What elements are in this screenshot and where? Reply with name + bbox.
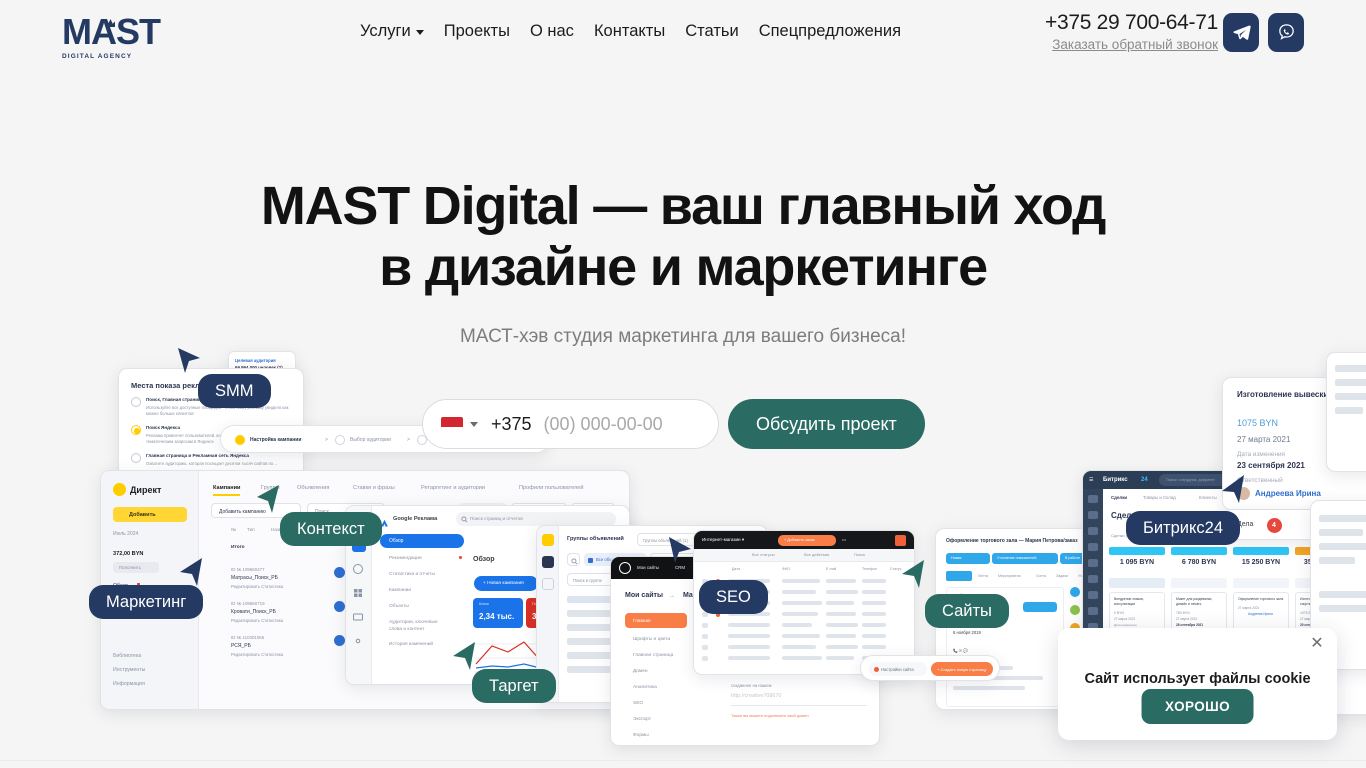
create-page-button[interactable]: + Создать новую страницу: [931, 662, 993, 676]
cursor-bitrix: [1218, 473, 1246, 505]
google-ads-brand: Google Реклама: [393, 516, 437, 522]
builder-nav-crm[interactable]: CRM: [675, 565, 685, 570]
deal-tab-obshee[interactable]: [946, 571, 972, 581]
telegram-icon: [1232, 23, 1251, 42]
add-deal-button[interactable]: [1171, 578, 1227, 588]
stage-sum: 15 250 BYN: [1233, 559, 1289, 566]
list-icon[interactable]: [542, 578, 554, 590]
cookie-message: Сайт использует файлы cookie: [1058, 671, 1337, 687]
site-settings-button[interactable]: Настройки сайта: [869, 662, 927, 676]
badge-kontekst[interactable]: Контекст: [280, 512, 382, 546]
builder-menu-export[interactable]: Экспорт: [633, 717, 651, 722]
cursor-target: [449, 640, 477, 672]
detail-changed: 23 сентября 2021: [1237, 461, 1305, 470]
nav-item-o-nas[interactable]: О нас: [530, 22, 574, 41]
chevron-down-icon[interactable]: [470, 422, 478, 427]
google-menu-statistika[interactable]: Статистика и отчеты: [389, 572, 435, 577]
deal-tab-lenta[interactable]: Лента: [978, 574, 988, 578]
direct-tab-obyavleniya[interactable]: Объявления: [297, 485, 329, 491]
deal-card[interactable]: Оформление торгового зала 27 марта 2021 …: [1233, 592, 1289, 632]
nav-item-stati[interactable]: Статьи: [685, 22, 738, 41]
cursor-seo: [667, 535, 693, 565]
badge-target[interactable]: Таргет: [472, 669, 556, 703]
radio-option-1[interactable]: [131, 397, 141, 407]
bitrix-brand: Битрикс: [1103, 477, 1128, 483]
google-new-campaign-button[interactable]: + Новая кампания: [474, 576, 538, 591]
direct-menu-instrumenty[interactable]: Инструменты: [113, 667, 145, 673]
search-icon[interactable]: [567, 553, 580, 566]
phone-input-group[interactable]: +375 (00) 000-00-00: [422, 399, 719, 449]
google-menu-obzor-active[interactable]: Обзор: [380, 534, 464, 548]
billing-icon[interactable]: [352, 610, 366, 624]
direct-tab-retargeting[interactable]: Ретаргетинг и аудитории: [421, 485, 485, 491]
create-deal-button[interactable]: [1023, 602, 1057, 612]
detail-responsible[interactable]: Андреева Ирина: [1255, 489, 1321, 498]
option-3-label: Главная страница и Рекламная сеть Яндекс…: [146, 453, 249, 458]
hero-title: MAST Digital — ваш главный ход в дизайне…: [0, 176, 1366, 298]
site-header: MAST DIGITAL AGENCY Услуги Проекты О нас…: [0, 0, 1366, 66]
option-3-desc: Охватите аудиторию, которая посещает дес…: [146, 461, 296, 466]
direct-total-row: Итого: [231, 545, 245, 550]
main-nav: Услуги Проекты О нас Контакты Статьи Спе…: [360, 22, 901, 41]
chevron-down-icon: [416, 30, 424, 35]
col-num: №: [231, 527, 236, 532]
crm-add-button[interactable]: + Добавить заказ: [778, 535, 836, 546]
callback-link[interactable]: Заказать обратный звонок: [1052, 37, 1218, 52]
yandex-logo-icon: [113, 483, 126, 496]
by-flag-icon: [441, 417, 463, 432]
stage-sum: 1 095 BYN: [1109, 559, 1165, 566]
badge-seo[interactable]: SEO: [699, 580, 768, 614]
add-deal-button[interactable]: [1233, 578, 1289, 588]
nav-item-kontakty[interactable]: Контакты: [594, 22, 665, 41]
google-menu-obekty[interactable]: Объекты: [389, 604, 409, 609]
google-menu-istoriya[interactable]: История изменений: [389, 642, 433, 647]
col-type: Тип: [247, 527, 255, 532]
stage-header: [1109, 547, 1165, 555]
header-contacts: +375 29 700-64-71 Заказать обратный звон…: [1045, 11, 1218, 54]
tools-icon[interactable]: [352, 586, 366, 600]
direct-menu-informaciya[interactable]: Информация: [113, 681, 145, 687]
cursor-smm: [176, 346, 202, 376]
logo[interactable]: MAST DIGITAL AGENCY: [62, 14, 182, 60]
admin-icon[interactable]: [352, 634, 366, 648]
hero-title-line-1: MAST Digital — ваш главный ход: [0, 176, 1366, 237]
direct-tab-profili[interactable]: Профили пользователей: [519, 485, 584, 491]
step-2: Выбор аудитории: [350, 437, 391, 443]
audience-label: Целевая аудитория: [235, 358, 276, 363]
phone-number[interactable]: +375 29 700-64-71: [1045, 11, 1218, 35]
google-menu-kampanii[interactable]: Кампании: [389, 588, 411, 593]
badge-smm[interactable]: SMM: [198, 374, 271, 408]
direct-menu-biblioteka[interactable]: Библиотека: [113, 653, 141, 659]
direct-add-button[interactable]: Добавить: [113, 507, 187, 522]
google-ads-search[interactable]: Поиск страниц и отчетов: [456, 512, 616, 526]
crm-deal-title: Оформление торгового зала — Мария Петров…: [946, 538, 1078, 544]
viber-button[interactable]: [1268, 13, 1304, 52]
bitrix-brand-num: 24: [1141, 477, 1148, 483]
stage-sum: 6 780 BYN: [1171, 559, 1227, 566]
direct-topup-button[interactable]: Пополнить: [113, 562, 159, 573]
direct-brand: Директ: [130, 485, 161, 495]
detail-changed-label: Дата изменения: [1237, 451, 1285, 458]
direct-period: Июль 2024: [113, 531, 138, 537]
social-links: [1223, 13, 1304, 52]
bitrix-menu-klienty[interactable]: Клиенты: [1199, 495, 1217, 500]
cookie-banner: ✕ Сайт использует файлы cookie ХОРОШО: [1058, 628, 1337, 740]
google-menu-audiencii[interactable]: Аудитории, ключевые слова и контент: [389, 620, 447, 633]
builder-menu-analytics[interactable]: Аналитика: [633, 685, 657, 690]
direct-tab-kampanii[interactable]: Кампании: [213, 485, 240, 496]
builder-menu-home[interactable]: Главная страница: [633, 653, 673, 658]
direct-tab-stavki[interactable]: Ставки и фразы: [353, 485, 395, 491]
groups-icon[interactable]: [542, 556, 554, 568]
builder-menu-glavnaya-active[interactable]: Главная: [625, 613, 687, 628]
deal-tab-meropriyatiya[interactable]: Мероприятия: [998, 574, 1021, 578]
phone-input[interactable]: (00) 000-00-00: [544, 414, 663, 435]
logo-text: MAST: [62, 14, 182, 50]
stage-header: [1171, 547, 1227, 555]
step-1: Настройка кампании: [250, 437, 301, 443]
ad-groups-title: Группы объявлений: [567, 536, 624, 542]
builder-crumb-1[interactable]: Мои сайты: [625, 592, 663, 599]
viber-icon: [1277, 23, 1296, 42]
builder-menu-seo[interactable]: SEO: [633, 701, 643, 706]
quick-deal-button[interactable]: [1109, 578, 1165, 588]
nav-item-proekty[interactable]: Проекты: [444, 22, 510, 41]
logo-tagline: DIGITAL AGENCY: [62, 53, 182, 60]
crm-title: Интернет-магазин ▾: [702, 537, 744, 543]
google-overview-title: Обзор: [473, 556, 495, 563]
goals-icon[interactable]: [352, 562, 366, 576]
discuss-project-button[interactable]: Обсудить проект: [728, 399, 925, 449]
close-icon[interactable]: ✕: [1308, 635, 1326, 653]
screenshot-edge-right-1[interactable]: [1326, 352, 1366, 472]
deal-tab-zadachi[interactable]: Задачи: [1056, 574, 1068, 578]
stage-clarify[interactable]: Уточнение показателей: [992, 553, 1058, 564]
badge-marketing[interactable]: Маркетинг: [89, 585, 203, 619]
bitrix-menu-tovary[interactable]: Товары и Склад: [1143, 495, 1176, 500]
deal-date: 6 ноября 2019: [953, 630, 981, 635]
nav-label: Услуги: [360, 22, 411, 41]
nav-item-uslugi[interactable]: Услуги: [360, 22, 424, 41]
cursor-marketing: [176, 556, 204, 588]
cursor-saity: [898, 558, 926, 590]
builder-menu-fonts[interactable]: Шрифты и цвета: [633, 637, 670, 642]
radio-option-3[interactable]: [131, 453, 141, 463]
hero-contact-form: +375 (00) 000-00-00 Обсудить проект: [422, 399, 925, 449]
detail-price: 1075 BYN: [1237, 418, 1278, 428]
yandex-icon: [542, 534, 554, 546]
builder-menu-forms[interactable]: Формы: [633, 733, 649, 738]
stage-new[interactable]: Новая: [946, 553, 990, 564]
direct-budget: 372,00 BYN: [113, 551, 143, 557]
telegram-button[interactable]: [1223, 13, 1259, 52]
field-3-label: созданное на нашем: [731, 683, 771, 688]
metric-card-clicks[interactable]: Клики 2,34 тыс.: [473, 598, 523, 628]
builder-hint: Также вы можете подключить свой домен: [731, 713, 809, 718]
google-menu-rekomendacii[interactable]: Рекомендации: [389, 556, 422, 561]
hero-title-line-2: в дизайне и маркетинге: [0, 237, 1366, 298]
radio-option-2[interactable]: [131, 425, 141, 435]
builder-nav-sites[interactable]: Мои сайты: [637, 565, 659, 570]
crm-avatar[interactable]: [895, 535, 906, 546]
cursor-kontekst: [253, 483, 281, 515]
dela-count-badge: 4: [1267, 518, 1282, 533]
detail-date: 27 марта 2021: [1237, 435, 1290, 444]
stage-header: [1233, 547, 1289, 555]
country-code: +375: [491, 414, 532, 435]
screenshot-site-actions[interactable]: Настройки сайта + Создать новую страницу: [860, 655, 1000, 681]
builder-menu-domain[interactable]: Домен: [633, 669, 648, 674]
nav-item-specpredlozheniya[interactable]: Спецпредложения: [759, 22, 901, 41]
cookie-accept-button[interactable]: ХОРОШО: [1141, 689, 1254, 724]
option-2-label: Поиск Яндекса: [146, 425, 180, 430]
page-divider: [0, 760, 1366, 761]
bitrix-menu-sdelki[interactable]: Сделки: [1111, 495, 1127, 500]
badge-bitrix24[interactable]: Битрикс24: [1126, 511, 1240, 545]
field-3-value[interactable]: http://creative708670: [731, 693, 781, 699]
deal-tab-scheta[interactable]: Счета: [1036, 574, 1046, 578]
badge-saity[interactable]: Сайты: [925, 594, 1009, 628]
